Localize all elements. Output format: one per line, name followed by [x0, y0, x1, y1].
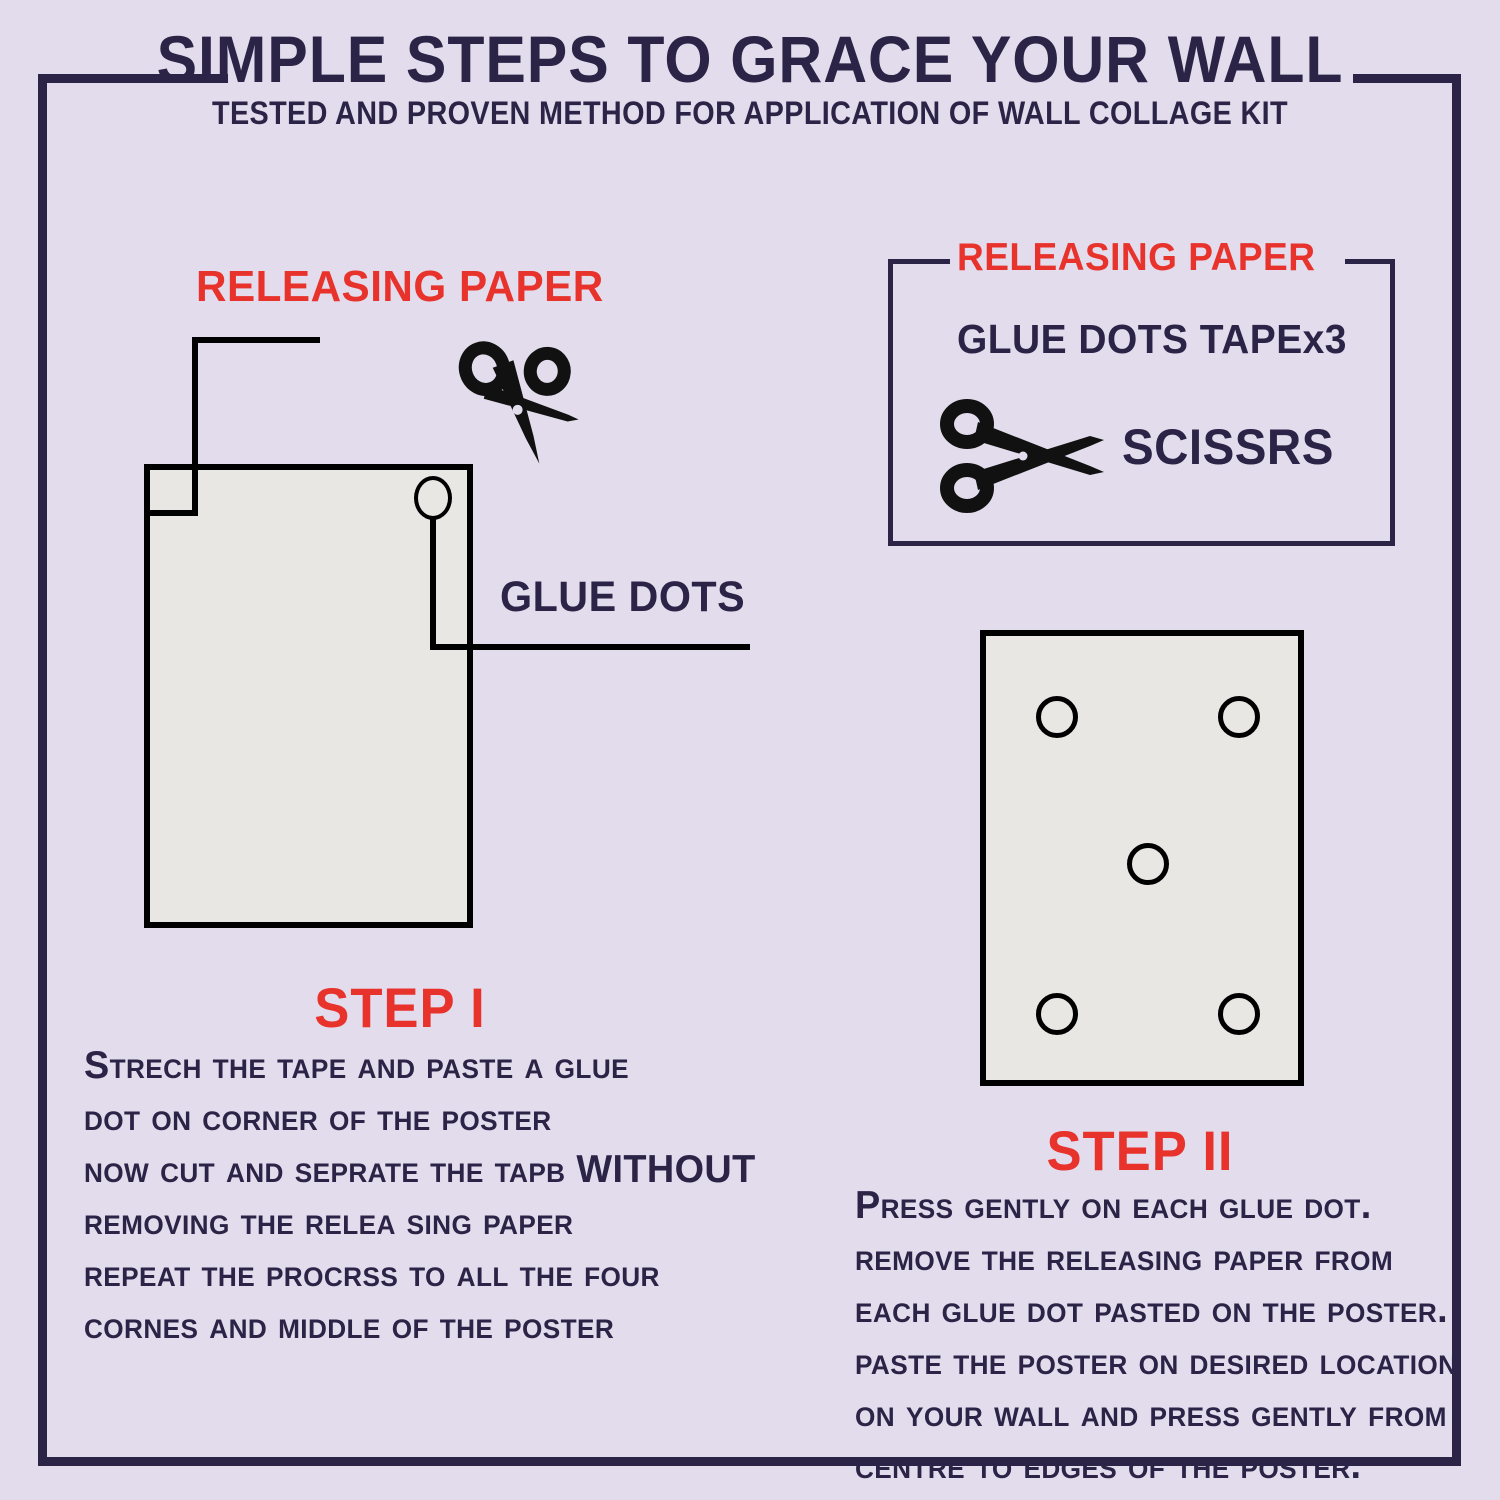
- kit-box-title: RELEASING PAPER: [957, 236, 1315, 280]
- step-1-line: repeat the procrss to all the four: [84, 1248, 821, 1300]
- step-2-line: on your wall and press gently from: [855, 1388, 1437, 1440]
- scissors-text-label: SCISSRS: [1122, 418, 1334, 476]
- step-1-line: now cut and seprate the tapb WITHOUT: [84, 1144, 821, 1196]
- step-2-line: paste the poster on desired location: [855, 1336, 1437, 1388]
- kit-box-border-top-left: [888, 259, 950, 264]
- step-1-line: removing the relea sing paper: [84, 1196, 821, 1248]
- callout-line-gluedots-vertical: [430, 518, 436, 650]
- step-2-line: Press gently on each glue dot.: [855, 1180, 1437, 1232]
- step-2-line: remove the releasing paper from: [855, 1232, 1437, 1284]
- glue-dot-step1: [414, 476, 452, 520]
- step-2-line: centre to edges of the poster.: [855, 1440, 1437, 1492]
- glue-dot-bottom-right: [1218, 993, 1260, 1035]
- kit-box-border-top-right: [1345, 259, 1395, 264]
- releasing-paper-label-left: RELEASING PAPER: [196, 262, 604, 312]
- step-1-line: Strech the tape and paste a glue: [84, 1040, 821, 1092]
- step-2-heading: STEP II: [849, 1118, 1432, 1183]
- releasing-paper-corner-square: [144, 464, 198, 516]
- kit-box-border-left: [888, 259, 893, 546]
- outer-frame-right: [1452, 74, 1461, 1466]
- step-2-line: each glue dot pasted on the poster.: [855, 1284, 1437, 1336]
- poster-sheet-step1: [144, 464, 473, 928]
- poster-sheet-step2: [980, 630, 1304, 1086]
- infographic-canvas: SIMPLE STEPS TO GRACE YOUR WALL TESTED A…: [0, 0, 1500, 1500]
- scissors-icon: [940, 398, 1110, 513]
- step-1-line: cornes and middle of the poster: [84, 1300, 821, 1352]
- glue-dot-top-left: [1036, 696, 1078, 738]
- kit-box-border-bottom: [888, 541, 1395, 546]
- glue-dots-tape-label: GLUE DOTS TAPEx3: [957, 316, 1347, 363]
- page-title: SIMPLE STEPS TO GRACE YOUR WALL: [60, 24, 1440, 94]
- callout-line-releasing-horizontal: [192, 337, 320, 343]
- scissors-icon: [443, 333, 583, 473]
- glue-dot-top-right: [1218, 696, 1260, 738]
- step-1-heading: STEP I: [24, 975, 776, 1040]
- callout-line-releasing-vertical: [192, 337, 198, 467]
- step-1-line: dot on corner of the poster: [84, 1092, 821, 1144]
- outer-frame-left: [38, 74, 47, 1466]
- step-2-body: Press gently on each glue dot. remove th…: [855, 1180, 1437, 1492]
- kit-box-border-right: [1390, 259, 1395, 546]
- glue-dots-label: GLUE DOTS: [500, 573, 745, 622]
- page-subtitle: TESTED AND PROVEN METHOD FOR APPLICATION…: [75, 96, 1425, 130]
- step-1-body: Strech the tape and paste a glue dot on …: [84, 1040, 821, 1352]
- glue-dot-center: [1127, 843, 1169, 885]
- glue-dot-bottom-left: [1036, 993, 1078, 1035]
- callout-line-gluedots-horizontal: [430, 644, 750, 650]
